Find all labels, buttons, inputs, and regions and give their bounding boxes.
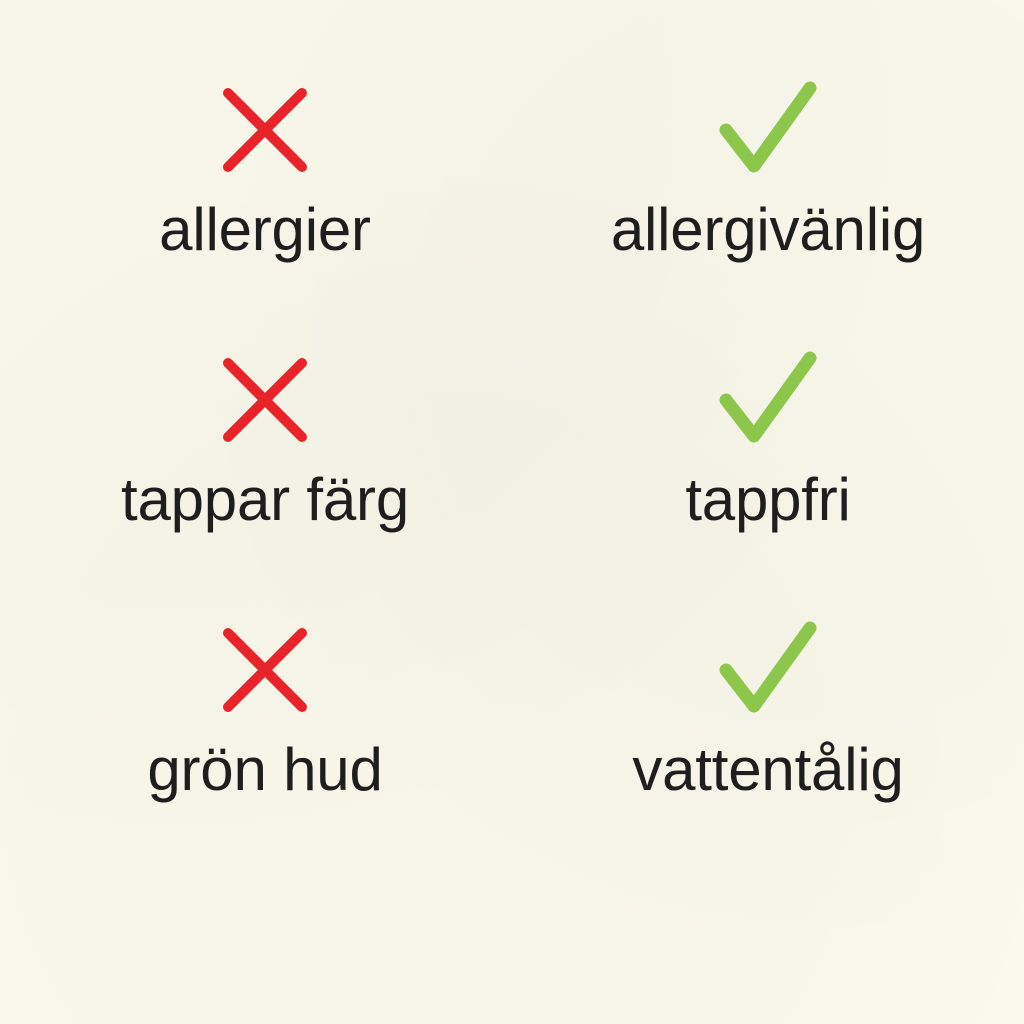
comparison-cell-negative: grön hud xyxy=(0,618,512,888)
comparison-label-positive: vattentålig xyxy=(632,740,903,800)
comparison-cell-positive: vattentålig xyxy=(512,618,1024,888)
comparison-label-positive: tappfri xyxy=(685,470,850,530)
comparison-label-positive: allergivänlig xyxy=(611,200,925,260)
cross-icon xyxy=(222,618,308,722)
check-icon xyxy=(716,348,820,452)
comparison-cell-positive: tappfri xyxy=(512,348,1024,618)
comparison-label-negative: grön hud xyxy=(147,740,382,800)
comparison-cell-negative: tappar färg xyxy=(0,348,512,618)
check-icon xyxy=(716,78,820,182)
comparison-label-negative: allergier xyxy=(159,200,371,260)
check-icon xyxy=(716,618,820,722)
comparison-cell-positive: allergivänlig xyxy=(512,78,1024,348)
comparison-label-negative: tappar färg xyxy=(121,470,409,530)
comparison-cell-negative: allergier xyxy=(0,78,512,348)
comparison-grid: allergier allergivänlig tappar färg xyxy=(0,78,1024,888)
comparison-board: allergier allergivänlig tappar färg xyxy=(0,0,1024,1024)
cross-icon xyxy=(222,78,308,182)
cross-icon xyxy=(222,348,308,452)
